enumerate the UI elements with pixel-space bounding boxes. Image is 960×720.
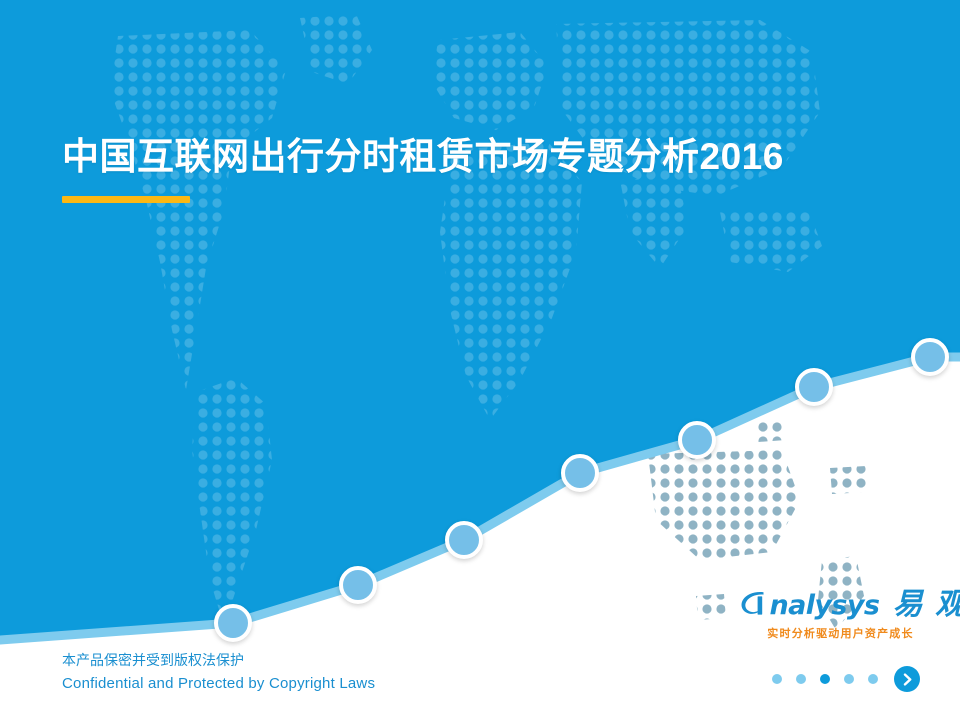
- pagination-dot-4[interactable]: [844, 674, 854, 684]
- confidentiality-notice: 本产品保密并受到版权法保护 Confidential and Protected…: [62, 650, 375, 695]
- logo-brand-cn: 易 观: [893, 590, 960, 620]
- pagination-dot-2[interactable]: [796, 674, 806, 684]
- pagination-dot-1[interactable]: [772, 674, 782, 684]
- pagination-dot-5[interactable]: [868, 674, 878, 684]
- analysys-a-swoosh-icon: [738, 588, 768, 622]
- title-accent-rule: [62, 196, 190, 203]
- confidentiality-notice-en: Confidential and Protected by Copyright …: [62, 672, 375, 695]
- trend-node-3: [445, 521, 483, 559]
- page-title: 中国互联网出行分时租赁市场专题分析2016: [62, 126, 784, 180]
- trend-node-1: [214, 604, 252, 642]
- logo-lockup: nalysys 易 观: [738, 588, 943, 622]
- next-slide-button[interactable]: [894, 666, 920, 692]
- confidentiality-notice-cn: 本产品保密并受到版权法保护: [62, 650, 375, 672]
- logo-wordmark: nalysys: [769, 592, 879, 619]
- pagination[interactable]: [772, 666, 920, 692]
- analysys-logo: nalysys 易 观 实时分析驱动用户资产成长: [738, 588, 943, 641]
- logo-tagline: 实时分析驱动用户资产成长: [738, 625, 943, 641]
- pagination-dot-3[interactable]: [820, 674, 830, 684]
- trend-node-2: [339, 566, 377, 604]
- trend-node-4: [561, 454, 599, 492]
- trend-node-7: [911, 338, 949, 376]
- chevron-right-icon: [901, 673, 914, 686]
- trend-node-5: [678, 421, 716, 459]
- cover-slide: 中国互联网出行分时租赁市场专题分析2016 本产品保密并受到版权法保护 Conf…: [0, 0, 960, 720]
- trend-node-6: [795, 368, 833, 406]
